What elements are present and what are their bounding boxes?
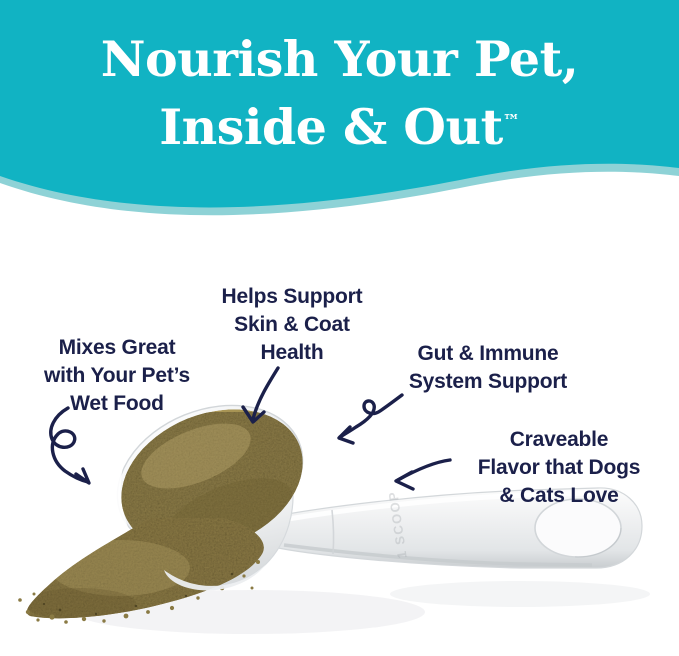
promo-graphic: Nourish Your Pet, Inside & Out™ Mixes Gr… xyxy=(0,0,679,656)
looped-arrow-down-left-icon xyxy=(336,383,416,455)
callout-label-skin-coat-health: Helps Support Skin & Coat Health xyxy=(196,283,388,367)
curled-arrow-down-right-icon xyxy=(38,398,114,490)
title-line-2-text: Inside & Out xyxy=(159,98,502,156)
header-banner: Nourish Your Pet, Inside & Out™ xyxy=(0,0,679,225)
title-line-1: Nourish Your Pet, xyxy=(0,26,679,94)
title-line-2: Inside & Out™ xyxy=(0,94,679,162)
callout-label-craveable-flavor: Craveable Flavor that Dogs & Cats Love xyxy=(451,426,667,510)
handle-shadow xyxy=(390,581,650,607)
page-title: Nourish Your Pet, Inside & Out™ xyxy=(0,26,679,161)
trademark-symbol: ™ xyxy=(503,111,520,131)
curved-arrow-left-icon xyxy=(388,452,458,500)
callout-label-gut-immune-support: Gut & Immune System Support xyxy=(390,340,586,396)
curved-arrow-down-icon xyxy=(234,362,290,434)
